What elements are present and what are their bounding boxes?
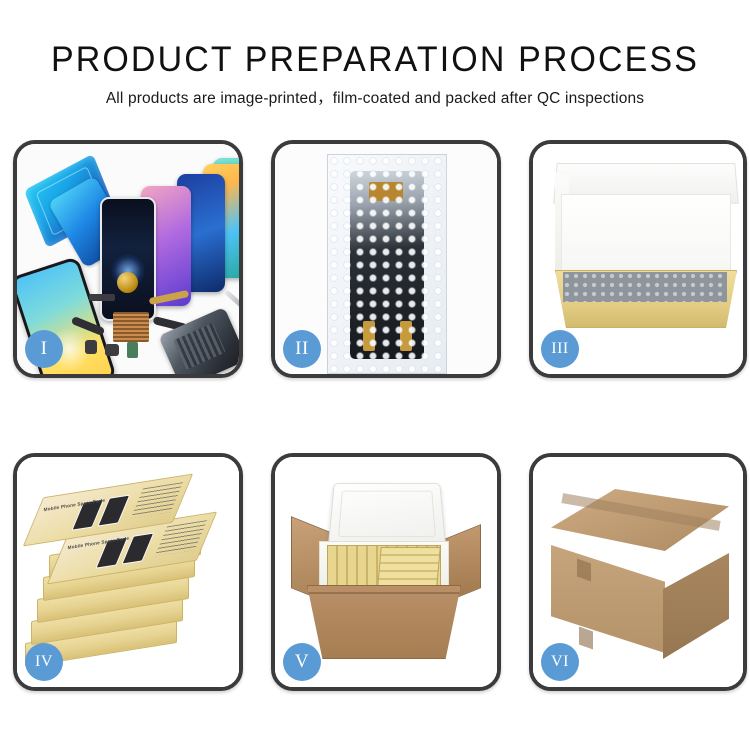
step-badge-2: II — [283, 330, 321, 368]
carton-seal-lower — [579, 626, 593, 649]
lid-spec-lines-back — [131, 482, 183, 518]
retail-box-stack: Mobile Phone Spare Parts Mobile Phone Sp… — [23, 481, 231, 671]
step-panel-5: V — [271, 453, 501, 691]
spare-connector-grid — [113, 312, 149, 342]
tweezers-icon — [224, 290, 239, 314]
step-panel-3: III — [529, 140, 747, 378]
bubble-wrap-bag — [327, 154, 447, 374]
step-panel-4: Mobile Phone Spare Parts Mobile Phone Sp… — [13, 453, 243, 691]
foam-lid — [328, 483, 446, 546]
spare-speaker-icon — [117, 272, 138, 293]
spare-chip-3 — [105, 344, 119, 356]
step-badge-5: V — [283, 643, 321, 681]
step-3-photo: III — [533, 144, 743, 374]
step-badge-4: IV — [25, 643, 63, 681]
step-panel-1: I — [13, 140, 243, 378]
step-5-photo: V — [275, 457, 497, 687]
step-1-photo: I — [17, 144, 239, 374]
step-panel-6: VI — [529, 453, 747, 691]
step-panel-2: II — [271, 140, 501, 378]
packed-boxes-row-2 — [377, 547, 440, 587]
page-subtitle: All products are image-printed，film-coat… — [0, 80, 750, 109]
phone-screen-1 — [100, 197, 156, 321]
step-badge-6: VI — [541, 643, 579, 681]
carton-side-face — [663, 553, 729, 659]
spare-chip-1 — [89, 294, 115, 301]
step-4-photo: Mobile Phone Spare Parts Mobile Phone Sp… — [17, 457, 239, 687]
white-foam-sheet — [561, 194, 731, 274]
lid-spec-lines — [155, 520, 207, 556]
bubble-wrap-layer — [563, 272, 727, 302]
carton-front-face — [551, 545, 665, 653]
step-badge-3: III — [541, 330, 579, 368]
process-steps-grid: I II — [13, 140, 745, 691]
step-2-photo: II — [275, 144, 497, 374]
spare-battery-icon — [127, 342, 138, 358]
page-title: PRODUCT PREPARATION PROCESS — [11, 0, 739, 80]
page-header: PRODUCT PREPARATION PROCESS All products… — [0, 0, 750, 109]
step-badge-1: I — [25, 330, 63, 368]
opened-phone-chassis — [158, 307, 239, 374]
carton-front-wall — [307, 585, 461, 659]
product-preparation-process-page: PRODUCT PREPARATION PROCESS All products… — [0, 0, 750, 750]
spare-chip-2 — [85, 340, 97, 354]
step-6-photo: VI — [533, 457, 743, 687]
bubble-texture — [328, 155, 446, 373]
